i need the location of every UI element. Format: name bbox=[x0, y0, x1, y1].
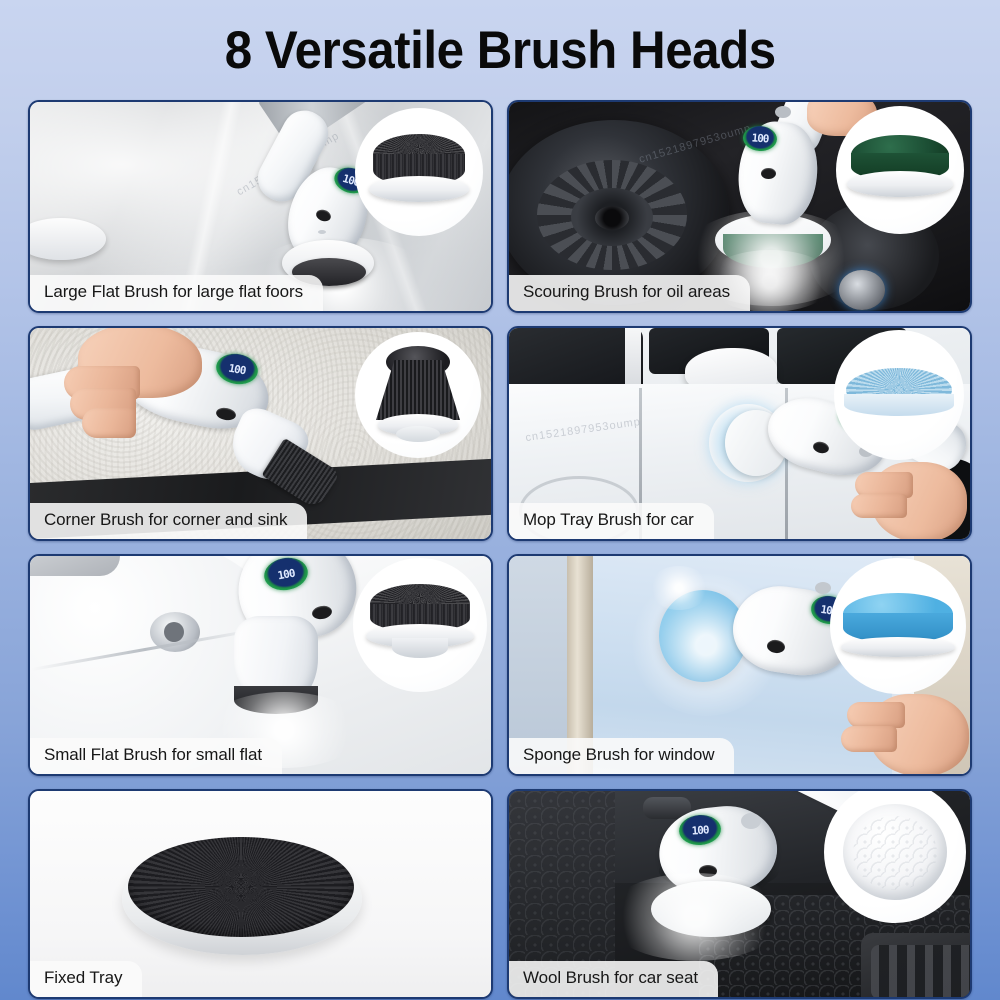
water-splash-2 bbox=[649, 566, 709, 610]
device-marker bbox=[741, 813, 761, 829]
car-rear-window bbox=[509, 328, 643, 392]
device-marker bbox=[815, 582, 831, 594]
car-b-pillar bbox=[625, 328, 641, 390]
card-sponge-brush[interactable]: 100 Sponge Brush for window bbox=[507, 554, 972, 776]
page-title: 8 Versatile Brush Heads bbox=[225, 20, 776, 81]
burner-center bbox=[595, 206, 629, 230]
caption-corner-brush: Corner Brush for corner and sink bbox=[30, 503, 307, 539]
inset-scouring-brush bbox=[836, 106, 964, 234]
head-stem bbox=[392, 638, 448, 658]
header: 8 Versatile Brush Heads bbox=[0, 0, 1000, 100]
card-scouring-brush[interactable]: cn1521897953oump 100 bbox=[507, 100, 972, 313]
inset-icon-white-wool-pad-head bbox=[843, 804, 947, 900]
inset-icon-green-scouring-pad-head bbox=[847, 135, 953, 205]
hand-gripping bbox=[841, 688, 970, 774]
caption-wool-brush: Wool Brush for car seat bbox=[509, 961, 718, 997]
caption-small-flat-brush: Small Flat Brush for small flat bbox=[30, 738, 282, 774]
caption-sponge-brush: Sponge Brush for window bbox=[509, 738, 734, 774]
caption-mop-tray-brush: Mop Tray Brush for car bbox=[509, 503, 714, 539]
card-fixed-tray[interactable]: Fixed Tray bbox=[28, 789, 493, 999]
inset-large-flat-brush bbox=[355, 108, 483, 236]
caption-fixed-tray: Fixed Tray bbox=[30, 961, 142, 997]
sink-rim-shadow bbox=[30, 556, 120, 576]
inset-icon-blue-hexagon-sponge-head bbox=[841, 593, 955, 659]
sink-drain-hole bbox=[164, 622, 184, 642]
inset-icon-black-short-bristle-flat-head bbox=[366, 584, 474, 666]
inset-icon-black-bristle-flat-brush-head bbox=[367, 132, 471, 212]
inset-small-flat-brush bbox=[353, 558, 487, 692]
stove-knob[interactable] bbox=[839, 270, 885, 310]
card-corner-brush[interactable]: 100 Corner Brush for corne bbox=[28, 326, 493, 541]
power-button[interactable] bbox=[761, 168, 776, 179]
device-marker bbox=[775, 106, 791, 118]
led-value: 100 bbox=[751, 132, 769, 144]
inset-mop-tray-brush bbox=[834, 330, 964, 460]
caption-large-flat-brush: Large Flat Brush for large flat foors bbox=[30, 275, 323, 311]
card-mop-tray-brush[interactable]: cn1521897953oump 100 bbox=[507, 326, 972, 541]
inset-icon-blue-microfiber-mop-tray-head bbox=[844, 368, 954, 422]
water-foam bbox=[605, 873, 785, 961]
inset-corner-brush bbox=[355, 332, 481, 458]
card-small-flat-brush[interactable]: 100 Small Flat Brush for small flat bbox=[28, 554, 493, 776]
led-value: 100 bbox=[691, 824, 709, 836]
led-value: 100 bbox=[277, 567, 296, 581]
card-wool-brush[interactable]: 100 Wool Brush for car seat bbox=[507, 789, 972, 999]
fixed-tray-velcro-surface bbox=[128, 837, 354, 937]
inset-sponge-brush bbox=[830, 558, 966, 694]
card-large-flat-brush[interactable]: cn1521897953oump 100 Large Flat Brush fo… bbox=[28, 100, 493, 313]
device-marker bbox=[318, 230, 326, 234]
hand-gripping bbox=[46, 328, 236, 456]
brush-head-grid: cn1521897953oump 100 Large Flat Brush fo… bbox=[0, 100, 1000, 999]
caption-scouring-brush: Scouring Brush for oil areas bbox=[509, 275, 750, 311]
inset-icon-black-tapered-corner-brush-head bbox=[372, 346, 464, 444]
